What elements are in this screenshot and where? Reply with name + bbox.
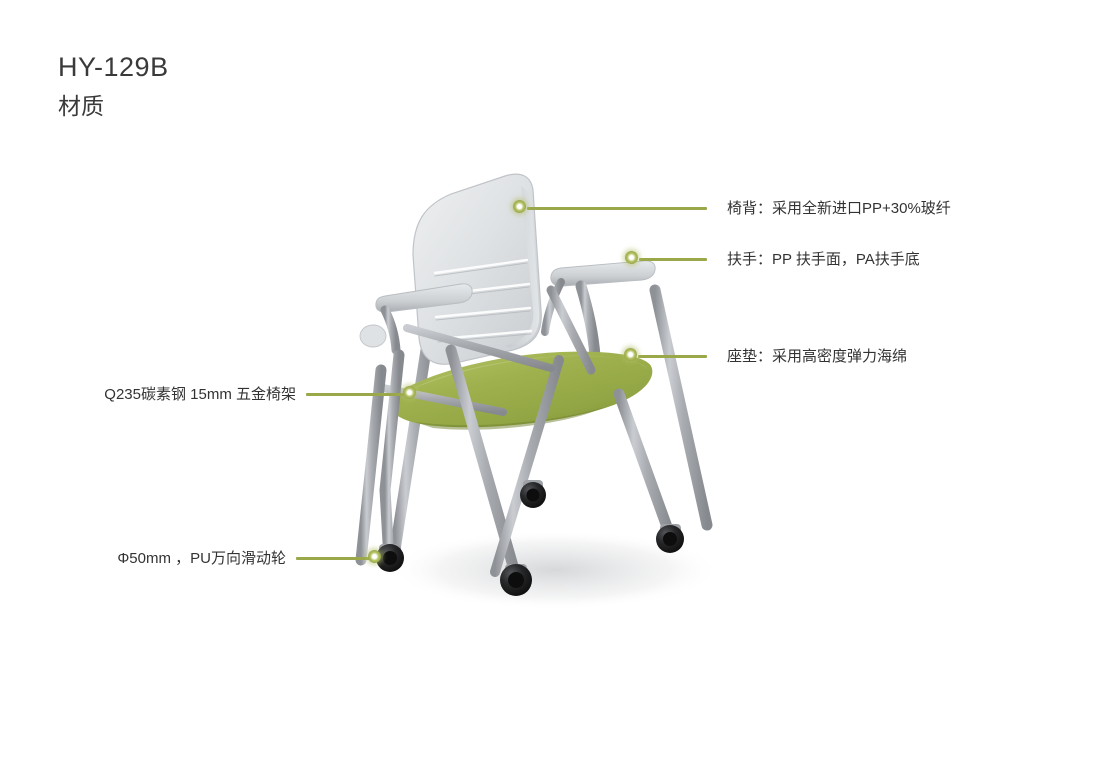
callout-line-casters <box>296 557 376 560</box>
armrest-right <box>551 261 655 286</box>
callout-dot-seat-cushion[interactable] <box>624 348 637 361</box>
callout-label-backrest: 椅背：采用全新进口PP+30%玻纤 <box>727 198 951 219</box>
callout-dot-casters[interactable] <box>368 550 381 563</box>
leg-front-left <box>361 370 381 560</box>
caster-front-left <box>500 564 532 596</box>
callout-label-casters: Φ50mm ，PU万向滑动轮 <box>117 548 286 569</box>
callout-dot-backrest[interactable] <box>513 200 526 213</box>
callout-dot-armrest[interactable] <box>625 251 638 264</box>
callout-line-seat-cushion <box>638 355 707 358</box>
caster-rear-middle <box>520 480 546 508</box>
callout-dot-steel-frame[interactable] <box>403 386 416 399</box>
product-callout-diagram: 椅背：采用全新进口PP+30%玻纤 扶手：PP 扶手面，PA扶手底 座垫：采用高… <box>0 0 1100 777</box>
caster-right <box>656 524 684 553</box>
leg-right <box>619 394 671 538</box>
callout-line-backrest <box>527 207 707 210</box>
callout-line-armrest <box>639 258 707 261</box>
callout-label-seat-cushion: 座垫：采用高密度弹力海绵 <box>727 346 907 367</box>
callout-label-steel-frame: Q235碳素钢 15mm 五金椅架 <box>104 384 296 405</box>
callout-line-steel-frame <box>306 393 409 396</box>
callout-label-armrest: 扶手：PP 扶手面，PA扶手底 <box>727 249 920 270</box>
